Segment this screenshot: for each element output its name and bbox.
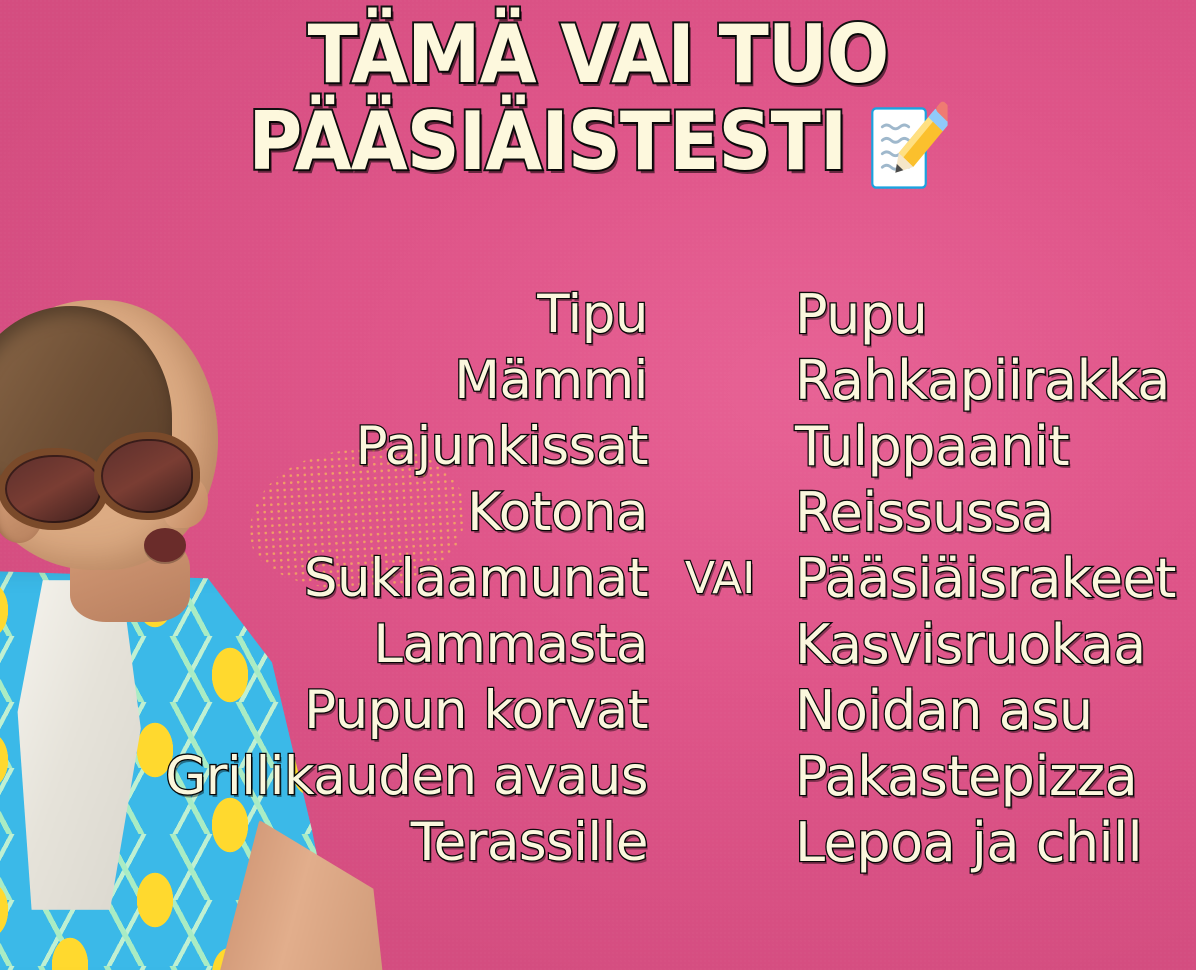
list-item: Tipu: [0, 282, 648, 348]
poster-canvas: TÄMÄ VAI TUO PÄÄSIÄISTESTI: [0, 0, 1196, 970]
list-item: Suklaamunat: [0, 546, 648, 612]
list-item: Reissussa: [795, 480, 1195, 546]
list-item: Lammasta: [0, 612, 648, 678]
list-item: Rahkapiirakka: [795, 348, 1195, 414]
list-item: Grillikauden avaus: [0, 744, 648, 810]
title-line-1: TÄMÄ VAI TUO: [48, 16, 1148, 94]
list-item: Tulppaanit: [795, 414, 1195, 480]
quiz-columns: Tipu Mämmi Pajunkissat Kotona Suklaamuna…: [0, 282, 1196, 882]
list-item: Terassille: [0, 810, 648, 876]
list-item: Pajunkissat: [0, 414, 648, 480]
separator-vai: VAI: [660, 546, 780, 612]
list-item: Mämmi: [0, 348, 648, 414]
quiz-right-column: Pupu Rahkapiirakka Tulppaanit Reissussa …: [795, 282, 1195, 876]
list-item: Pääsiäisrakeet: [795, 546, 1195, 612]
list-item: Pupu: [795, 282, 1195, 348]
page-title: TÄMÄ VAI TUO PÄÄSIÄISTESTI: [0, 16, 1196, 190]
list-item: Noidan asu: [795, 678, 1195, 744]
quiz-left-column: Tipu Mämmi Pajunkissat Kotona Suklaamuna…: [0, 282, 648, 876]
list-item: Kotona: [0, 480, 648, 546]
list-item: Kasvisruokaa: [795, 612, 1195, 678]
list-item: Pupun korvat: [0, 678, 648, 744]
title-line-2: PÄÄSIÄISTESTI: [248, 103, 846, 181]
list-item: Pakastepizza: [795, 744, 1195, 810]
title-line-2-row: PÄÄSIÄISTESTI: [248, 94, 947, 190]
list-item: Lepoa ja chill: [795, 810, 1195, 876]
memo-icon: [859, 100, 947, 196]
